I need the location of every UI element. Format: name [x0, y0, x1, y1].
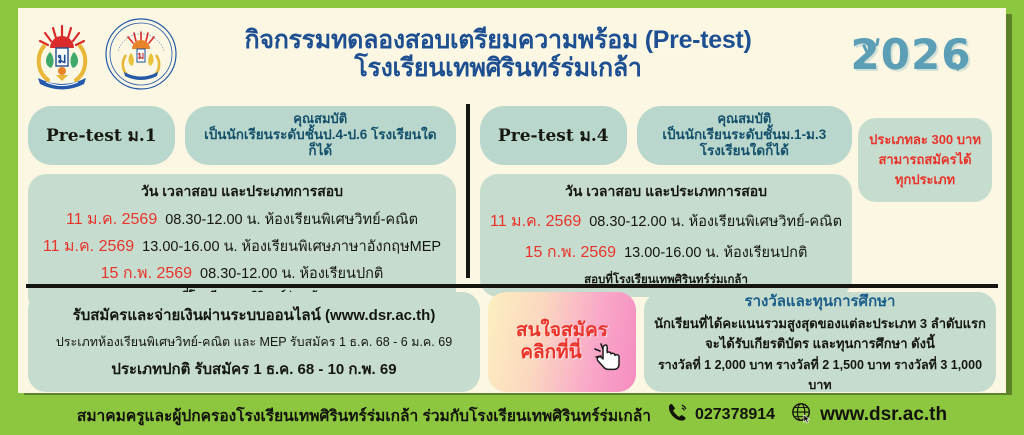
prizes-line-2: จะได้รับเกียรติบัตร และทุนการศึกษา ดังนี…	[654, 335, 986, 353]
school-crest-emblem-icon: ม	[26, 18, 98, 90]
registration-line-1: ประเภทห้องเรียนพิเศษวิทย์-คณิต และ MEP ร…	[38, 332, 470, 352]
panel-m4-headrow: Pre-test ม.4 คุณสมบัติ เป็นนักเรียนระดับ…	[480, 106, 852, 165]
svg-text:ม: ม	[57, 51, 66, 67]
price-line-3: ทุกประเภท	[864, 170, 986, 190]
schedule-date: 11 ม.ค. 2569	[66, 207, 157, 232]
panel-m4-schedule: วัน เวลาสอบ และประเภทการสอบ 11 ม.ค. 2569…	[480, 174, 852, 297]
schedule-detail: 13.00-16.00 น. ห้องเรียนปกติ	[624, 241, 807, 264]
schedule-date: 11 ม.ค. 2569	[43, 234, 134, 259]
globe-icon	[791, 402, 813, 429]
phone-icon	[667, 402, 688, 428]
panel-m1-title: Pre-test ม.1	[28, 106, 175, 165]
schedule-detail: 08.30-12.00 น. ห้องเรียนพิเศษวิทย์-คณิต	[165, 208, 418, 231]
schedule-detail: 08.30-12.00 น. ห้องเรียนปกติ	[200, 262, 383, 285]
svg-text:ม: ม	[138, 51, 145, 62]
registration-head: รับสมัครและจ่ายเงินผ่านระบบออนไลน์ (www.…	[38, 303, 470, 327]
panel-m1-qualification: คุณสมบัติ เป็นนักเรียนระดับชั้นป.4-ป.6 โ…	[185, 106, 456, 165]
bottom-section: รับสมัครและจ่ายเงินผ่านระบบออนไลน์ (www.…	[18, 292, 1006, 392]
school-circular-seal-icon: ม	[104, 17, 178, 91]
panel-m1-schedule-head: วัน เวลาสอบ และประเภทการสอบ	[38, 181, 446, 203]
schedule-date: 15 ก.พ. 2569	[525, 240, 616, 265]
title-line-1: กิจกรรมทดลองสอบเตรียมความพร้อม (Pre-test…	[180, 26, 816, 54]
year-label: 2026	[816, 30, 1006, 79]
footer-website[interactable]: www.dsr.ac.th	[791, 402, 947, 429]
panel-m4-qualification: คุณสมบัติ เป็นนักเรียนระดับชั้นม.1-ม.3 โ…	[637, 106, 852, 165]
exam-panels: Pre-test ม.1 คุณสมบัติ เป็นนักเรียนระดับ…	[18, 100, 1006, 284]
year-badge: 2026	[816, 30, 1006, 79]
click-hand-icon	[594, 342, 624, 374]
section-divider-horizontal	[26, 284, 998, 288]
poster-root: ม	[0, 0, 1024, 435]
apply-now-button[interactable]: สนใจสมัคร คลิกที่นี่	[488, 292, 636, 392]
footer-phone-number: 027378914	[695, 406, 775, 424]
footer-phone[interactable]: 027378914	[667, 402, 775, 428]
panel-m4: Pre-test ม.4 คุณสมบัติ เป็นนักเรียนระดับ…	[480, 106, 852, 284]
prizes-box: รางวัลและทุนการศึกษา นักเรียนที่ได้คะแนน…	[644, 292, 996, 392]
panel-m4-qual-head: คุณสมบัติ	[649, 111, 840, 127]
prizes-head: รางวัลและทุนการศึกษา	[654, 289, 986, 313]
title-line-2: โรงเรียนเทพศิรินทร์ร่มเกล้า	[180, 54, 816, 82]
panel-m4-wrap: Pre-test ม.4 คุณสมบัติ เป็นนักเรียนระดับ…	[470, 100, 1006, 284]
footer-website-url: www.dsr.ac.th	[820, 404, 947, 426]
schedule-row: 11 ม.ค. 2569 08.30-12.00 น. ห้องเรียนพิเ…	[38, 207, 446, 232]
schedule-row: 15 ก.พ. 2569 08.30-12.00 น. ห้องเรียนปกต…	[38, 261, 446, 286]
schedule-date: 11 ม.ค. 2569	[490, 209, 581, 234]
panel-m1-qual-text: เป็นนักเรียนระดับชั้นป.4-ป.6 โรงเรียนใดก…	[197, 127, 444, 161]
price-line-1: ประเภทละ 300 บาท	[864, 130, 986, 150]
schedule-row: 11 ม.ค. 2569 13.00-16.00 น. ห้องเรียนพิเ…	[38, 234, 446, 259]
schedule-row: 15 ก.พ. 2569 13.00-16.00 น. ห้องเรียนปกต…	[490, 240, 842, 265]
prizes-line-1: นักเรียนที่ได้คะแนนรวมสูงสุดของแต่ละประเ…	[654, 315, 986, 333]
poster-footer: สมาคมครูและผู้ปกครองโรงเรียนเทพศิรินทร์ร…	[0, 395, 1024, 435]
logo-group: ม	[18, 17, 178, 91]
schedule-detail: 13.00-16.00 น. ห้องเรียนพิเศษภาษาอังกฤษM…	[142, 235, 441, 258]
poster-header: ม	[18, 8, 1006, 100]
registration-line-2: ประเภทปกติ รับสมัคร 1 ธ.ค. 68 - 10 ก.พ. …	[38, 357, 470, 381]
price-wrap: ประเภทละ 300 บาท สามารถสมัครได้ ทุกประเภ…	[852, 106, 996, 284]
poster-title: กิจกรรมทดลองสอบเตรียมความพร้อม (Pre-test…	[178, 26, 816, 82]
poster-board: ม	[18, 8, 1006, 393]
panel-m4-qual-text: เป็นนักเรียนระดับชั้นม.1-ม.3 โรงเรียนใดก…	[649, 127, 840, 161]
registration-box: รับสมัครและจ่ายเงินผ่านระบบออนไลน์ (www.…	[28, 292, 480, 392]
panel-m1-qual-head: คุณสมบัติ	[197, 111, 444, 127]
schedule-row: 11 ม.ค. 2569 08.30-12.00 น. ห้องเรียนพิเ…	[490, 209, 842, 234]
price-line-2: สามารถสมัครได้	[864, 150, 986, 170]
schedule-date: 15 ก.พ. 2569	[101, 261, 192, 286]
panel-m4-title: Pre-test ม.4	[480, 106, 627, 165]
footer-organization: สมาคมครูและผู้ปกครองโรงเรียนเทพศิรินทร์ร…	[77, 403, 651, 428]
cta-line-1: สนใจสมัคร	[516, 320, 608, 342]
panel-m4-schedule-head: วัน เวลาสอบ และประเภทการสอบ	[490, 181, 842, 203]
prizes-amounts: รางวัลที่ 1 2,000 บาท รางวัลที่ 2 1,500 …	[654, 355, 986, 395]
cta-line-2: คลิกที่นี่	[520, 342, 603, 364]
panel-m1: Pre-test ม.1 คุณสมบัติ เป็นนักเรียนระดับ…	[18, 100, 466, 284]
price-box: ประเภทละ 300 บาท สามารถสมัครได้ ทุกประเภ…	[858, 118, 992, 202]
panel-m1-headrow: Pre-test ม.1 คุณสมบัติ เป็นนักเรียนระดับ…	[28, 106, 456, 165]
schedule-detail: 08.30-12.00 น. ห้องเรียนพิเศษวิทย์-คณิต	[589, 210, 842, 233]
